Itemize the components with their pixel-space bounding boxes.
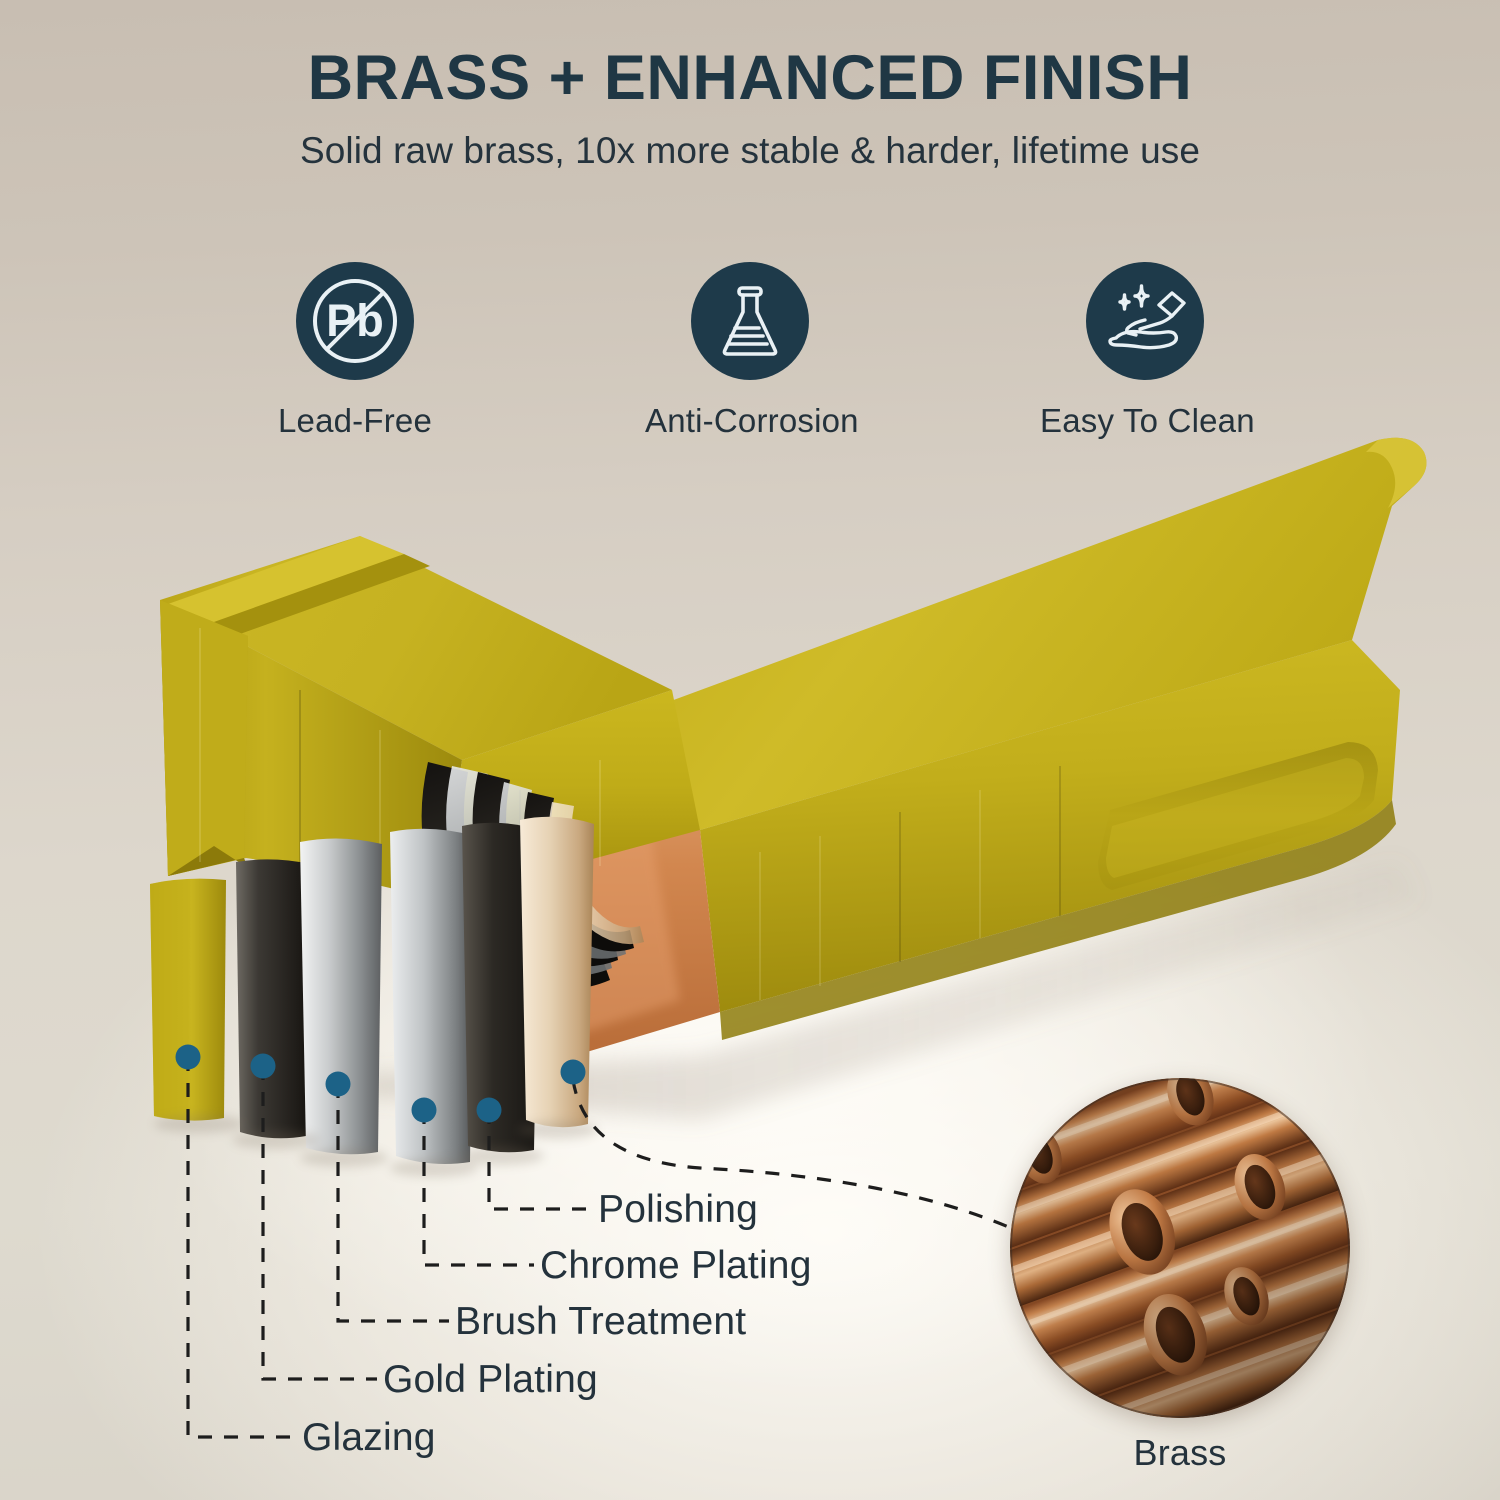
callout-dot-brass [561,1060,586,1085]
copper-brass-tubes-photo [1010,1078,1350,1418]
callout-label-gold-plating: Gold Plating [383,1360,598,1399]
peeled-layer-strips [150,817,598,1177]
callout-dot-glazing [176,1045,201,1070]
callout-dot-polishing [477,1098,502,1123]
brass-inset-label: Brass [1010,1432,1350,1474]
callout-dot-chrome-plating [412,1098,437,1123]
callout-label-polishing: Polishing [598,1190,758,1229]
callout-dot-brush-treatment [326,1072,351,1097]
callout-label-glazing: Glazing [302,1418,436,1457]
infographic-page: BRASS + ENHANCED FINISH Solid raw brass,… [0,0,1500,1500]
callout-dot-gold-plating [251,1054,276,1079]
brass-inset: Brass [1010,1078,1350,1474]
callout-label-brush-treatment: Brush Treatment [455,1302,746,1341]
callout-label-chrome-plating: Chrome Plating [540,1246,812,1285]
